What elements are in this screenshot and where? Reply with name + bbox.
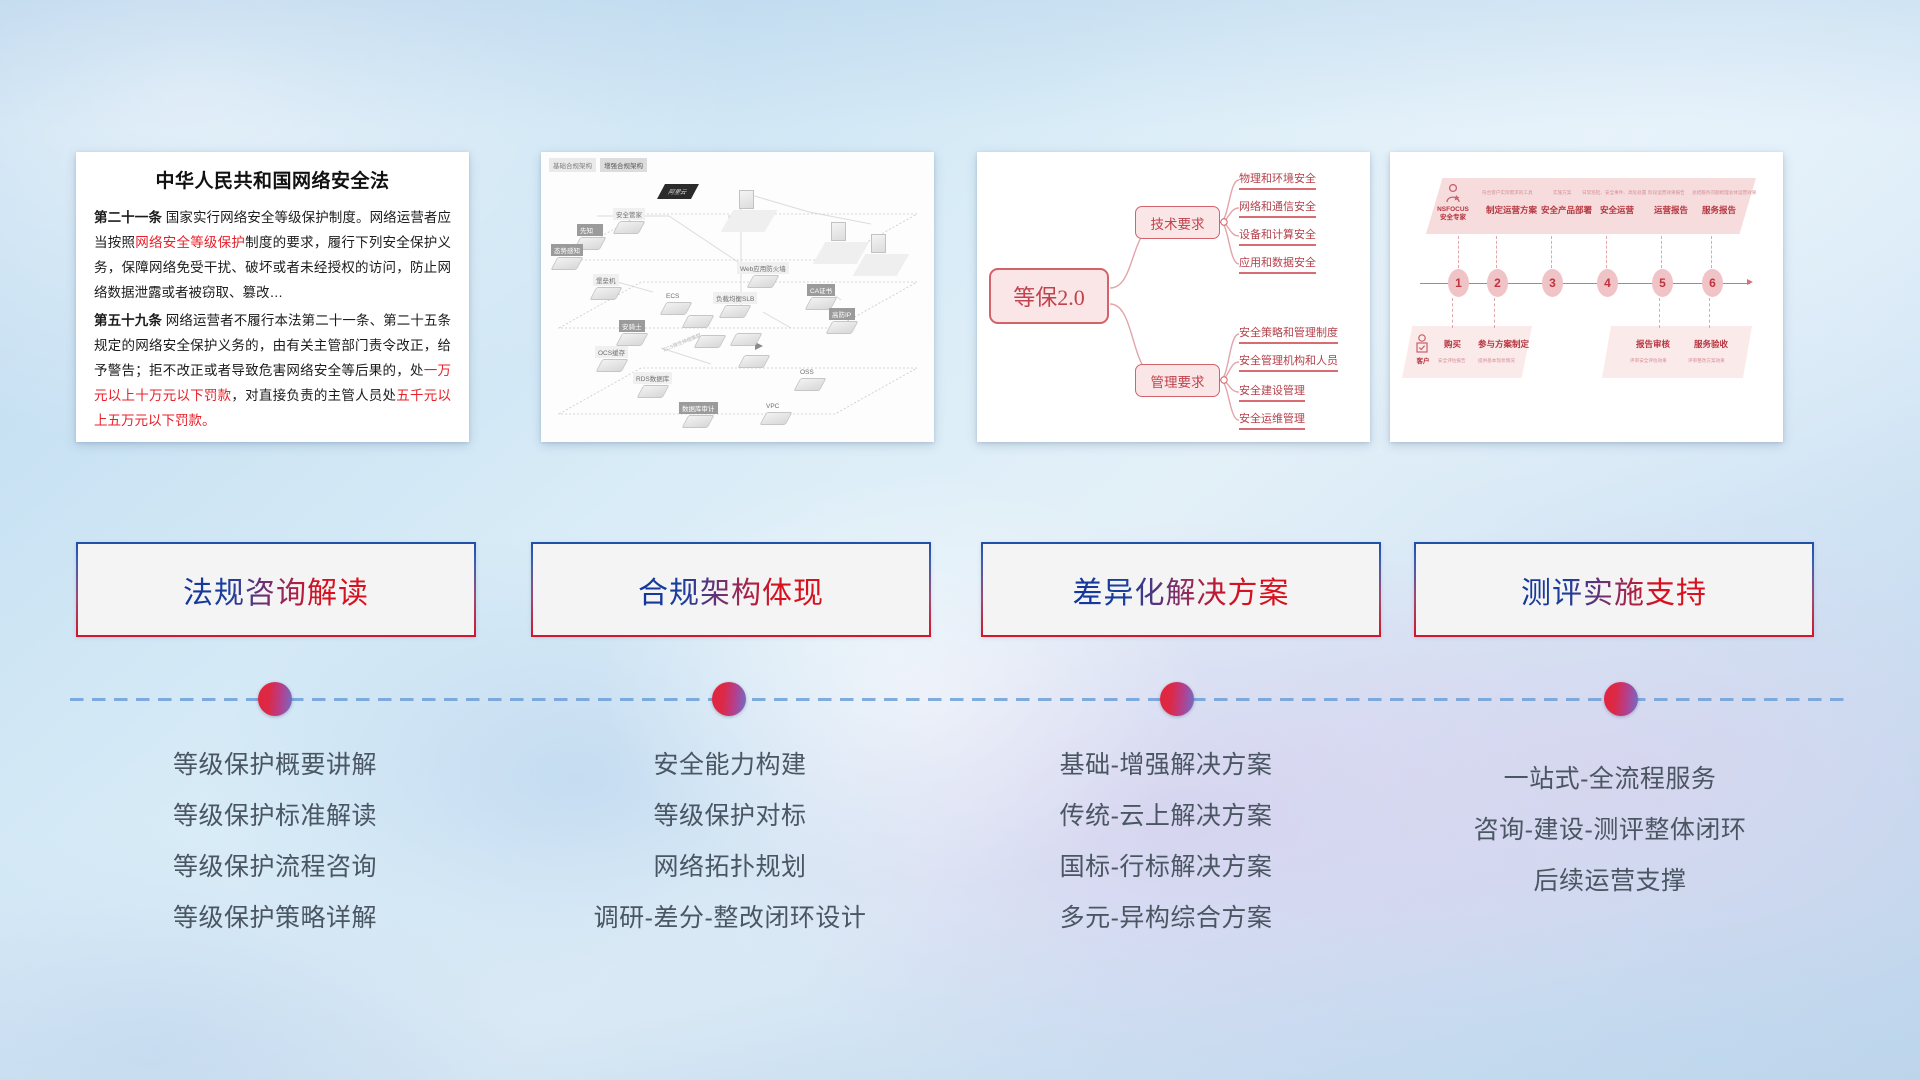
- timeline-axis: [1420, 283, 1750, 284]
- list-item: 国标-行标解决方案: [946, 842, 1386, 893]
- image-card-row: 中华人民共和国网络安全法 第二十一条 国家实行网络安全等级保护制度。网络运营者应…: [0, 152, 1920, 444]
- law-body: 中华人民共和国网络安全法 第二十一条 国家实行网络安全等级保护制度。网络运营者应…: [76, 152, 469, 442]
- list-item: 等级保护流程咨询: [55, 842, 495, 893]
- provider-step3-sub: 实施方案: [1553, 190, 1571, 196]
- node-ecs-instance-a: [685, 314, 711, 328]
- mindmap-leaf-network-comm: 网络和通信安全: [1239, 198, 1316, 218]
- node-security-butler-label: 安全管家: [613, 208, 645, 220]
- monitor-ops-icon: [739, 190, 754, 209]
- node-bastion-host: 堡垒机: [593, 274, 619, 300]
- node-database-audit-chip: [682, 415, 715, 428]
- provider-name-text: NSFOCUS: [1437, 206, 1469, 213]
- customer-step2-title: 参与方案制定: [1478, 338, 1529, 350]
- node-rds-database-chip: [636, 385, 669, 398]
- node-slb: 负载均衡SLB: [713, 292, 757, 318]
- provider-step3-title: 安全产品部署: [1541, 204, 1592, 216]
- node-situational-awareness-label: 态势感知: [551, 244, 583, 256]
- node-anqishi: 安骑士: [619, 320, 645, 346]
- list-item: 安全能力构建: [510, 740, 950, 791]
- node-ocs-cache: OCS缓存: [595, 346, 628, 372]
- node-slb-label: 负载均衡SLB: [713, 292, 757, 304]
- label-box-differentiated-solution[interactable]: 差异化解决方案: [981, 542, 1381, 637]
- timeline-arrow-icon: [1747, 279, 1753, 285]
- detail-list-row: 等级保护概要讲解 等级保护标准解读 等级保护流程咨询 等级保护策略详解 安全能力…: [0, 740, 1920, 970]
- customer-banner-right: [1602, 326, 1752, 378]
- label-box-row: 法规咨询解读 合规架构体现 差异化解决方案 测评实施支持: [0, 542, 1920, 652]
- mindmap-leaf-ops-mgmt: 安全运维管理: [1239, 410, 1305, 430]
- customer-step1-sub: 安全评估报告: [1438, 358, 1466, 364]
- node-ocs-cache-label: OCS缓存: [595, 346, 628, 358]
- node-ca-cert: CA证书: [807, 284, 835, 310]
- timeline-marker-2[interactable]: [712, 682, 746, 716]
- label-box-regulation-consulting[interactable]: 法规咨询解读: [76, 542, 476, 637]
- label-box-regulation-consulting-text: 法规咨询解读: [183, 568, 369, 612]
- node-anti-ddos-ip-label: 高防IP: [829, 308, 855, 320]
- label-box-compliance-architecture[interactable]: 合规架构体现: [531, 542, 931, 637]
- law-article-59-label: 第五十九条: [94, 313, 162, 328]
- provider-step6-sub: 总结服务问题梳理总体运营效果: [1692, 190, 1756, 196]
- node-xianzhi-label: 先知: [577, 224, 603, 236]
- detail-list-compliance-architecture: 安全能力构建 等级保护对标 网络拓扑规划 调研-差分-整改闭环设计: [510, 740, 950, 944]
- node-database-audit-label: 数据库审计: [679, 402, 718, 414]
- tab-basic-architecture[interactable]: 基础合规架构: [549, 158, 596, 172]
- customer-step6-title: 服务验收: [1694, 338, 1728, 350]
- mindmap-leaf-app-data: 应用和数据安全: [1239, 254, 1316, 274]
- provider-step4-sub: 日常巡检、安全事件、高危处置: [1582, 190, 1646, 196]
- customer-role: 客户: [1410, 358, 1436, 366]
- list-item: 等级保护标准解读: [55, 791, 495, 842]
- node-oss: OSS: [797, 368, 823, 391]
- node-ecs-instance-a-chip: [682, 315, 715, 328]
- list-item: 等级保护对标: [510, 791, 950, 842]
- list-item: 基础-增强解决方案: [946, 740, 1386, 791]
- monitor-pc-icon: [871, 234, 886, 253]
- monitor-mobile-icon: [831, 222, 846, 241]
- node-ecs-instance-d-chip: [738, 355, 771, 368]
- mindmap-branch-technical: 技术要求: [1135, 206, 1220, 239]
- law-article-59-text-b: ，对直接负责的主管人员处: [231, 388, 396, 403]
- node-waf: Web应用防火墙: [737, 262, 789, 288]
- mindmap: 等保2.0 技术要求 管理要求 物理和环境安全 网络和通信安全 设备和计算安全 …: [977, 152, 1370, 442]
- list-item: 咨询-建设-测评整体闭环: [1390, 805, 1830, 856]
- law-article-21: 第二十一条 国家实行网络安全等级保护制度。网络运营者应当按照网络安全等级保护制度…: [94, 205, 451, 305]
- node-bastion-host-chip: [590, 287, 623, 300]
- nsfocus-flow: NSFOCUS 安全专家 符合客户实际需求的工具 制定运营方案 实施方案 安全产…: [1390, 152, 1783, 442]
- node-situational-awareness: 态势感知: [551, 244, 583, 270]
- mindmap-leaf-construction-mgmt: 安全建设管理: [1239, 382, 1305, 402]
- provider-step5-sub: 阶段运营效果报告: [1648, 190, 1685, 196]
- tab-enhanced-architecture[interactable]: 增强合规架构: [600, 158, 647, 172]
- mindmap-leaf-policy-system: 安全策略和管理制度: [1239, 324, 1338, 344]
- list-item: 调研-差分-整改闭环设计: [510, 893, 950, 944]
- node-bastion-host-label: 堡垒机: [593, 274, 619, 286]
- node-waf-label: Web应用防火墙: [737, 262, 789, 274]
- node-database-audit: 数据库审计: [679, 402, 718, 428]
- node-vpc-chip: [760, 412, 793, 425]
- node-security-butler: 安全管家: [613, 208, 645, 234]
- customer-step5-sub: 评审安全评估效果: [1630, 358, 1667, 364]
- card-cybersecurity-law[interactable]: 中华人民共和国网络安全法 第二十一条 国家实行网络安全等级保护制度。网络运营者应…: [76, 152, 469, 442]
- timeline-step-2[interactable]: 2: [1487, 269, 1508, 297]
- mindmap-leaf-physical-env: 物理和环境安全: [1239, 170, 1316, 190]
- node-anti-ddos-ip-chip: [826, 321, 859, 334]
- node-ca-cert-label: CA证书: [807, 284, 835, 296]
- mindmap-leaf-device-compute: 设备和计算安全: [1239, 226, 1316, 246]
- connector-step1-top: [1458, 236, 1459, 268]
- detail-list-differentiated-solution: 基础-增强解决方案 传统-云上解决方案 国标-行标解决方案 多元-异构综合方案: [946, 740, 1386, 944]
- timeline-dashed-line: [70, 698, 1850, 701]
- architecture-diagram: 基础合规架构 增强合规架构: [541, 152, 934, 442]
- customer-person-icon: [1414, 334, 1430, 356]
- law-article-21-label: 第二十一条: [94, 210, 162, 225]
- node-rds-database: RDS数据库: [633, 372, 672, 398]
- node-rds-database-label: RDS数据库: [633, 372, 672, 384]
- node-ecs: ECS: [663, 292, 689, 315]
- customer-step5-title: 报告审核: [1636, 338, 1670, 350]
- timeline-marker-1[interactable]: [258, 682, 292, 716]
- timeline-marker-4[interactable]: [1604, 682, 1638, 716]
- law-article-21-highlight: 网络安全等级保护: [135, 235, 245, 250]
- provider-step5-title: 运营报告: [1654, 204, 1688, 216]
- timeline-step-6[interactable]: 6: [1702, 269, 1723, 297]
- connector-step1-bottom: [1452, 298, 1453, 328]
- timeline-marker-3[interactable]: [1160, 682, 1194, 716]
- timeline-step-4[interactable]: 4: [1597, 269, 1618, 297]
- node-security-butler-chip: [613, 221, 646, 234]
- card-cloud-architecture[interactable]: 基础合规架构 增强合规架构: [541, 152, 934, 442]
- law-title: 中华人民共和国网络安全法: [94, 166, 451, 193]
- connector-step2-top: [1496, 236, 1497, 268]
- list-item: 等级保护概要讲解: [55, 740, 495, 791]
- timeline-step-3[interactable]: 3: [1542, 269, 1563, 297]
- node-ecs-instance-d: [741, 354, 767, 368]
- mindmap-root: 等保2.0: [989, 268, 1109, 324]
- node-anqishi-chip: [616, 333, 649, 346]
- node-oss-chip: [794, 378, 827, 391]
- node-ocs-cache-chip: [595, 359, 628, 372]
- provider-step4-title: 安全运营: [1600, 204, 1634, 216]
- label-box-assessment-support-text: 测评实施支持: [1521, 568, 1707, 612]
- provider-step2-title: 制定运营方案: [1486, 204, 1537, 216]
- node-vpc: VPC: [763, 402, 789, 425]
- node-oss-label: OSS: [797, 368, 823, 377]
- node-ecs-label: ECS: [663, 292, 689, 301]
- provider-name: NSFOCUS 安全专家: [1430, 206, 1476, 222]
- provider-step6-title: 服务报告: [1702, 204, 1736, 216]
- label-box-differentiated-solution-text: 差异化解决方案: [1073, 568, 1290, 612]
- list-item: 多元-异构综合方案: [946, 893, 1386, 944]
- timeline-step-5[interactable]: 5: [1652, 269, 1673, 297]
- law-article-59: 第五十九条 网络运营者不履行本法第二十一条、第二十五条规定的网络安全保护义务的，…: [94, 308, 451, 433]
- provider-role-text: 安全专家: [1440, 214, 1466, 221]
- node-ecs-instance-b: [697, 334, 723, 348]
- list-item: 一站式-全流程服务: [1390, 754, 1830, 805]
- card-nsfocus-service-flow[interactable]: NSFOCUS 安全专家 符合客户实际需求的工具 制定运营方案 实施方案 安全产…: [1390, 152, 1783, 442]
- process-timeline: [0, 676, 1920, 724]
- connector-step6-top: [1711, 236, 1712, 268]
- customer-step1-title: 购买: [1444, 338, 1461, 350]
- node-ecs-instance-c: [733, 332, 759, 346]
- connector-step2-bottom: [1494, 298, 1495, 328]
- list-item: 等级保护策略详解: [55, 893, 495, 944]
- mindmap-branch-management: 管理要求: [1135, 364, 1220, 397]
- list-item: 网络拓扑规划: [510, 842, 950, 893]
- architecture-tabs: 基础合规架构 增强合规架构: [549, 158, 647, 172]
- detail-list-assessment-support: 一站式-全流程服务 咨询-建设-测评整体闭环 后续运营支撑: [1390, 754, 1830, 907]
- connector-step5-top: [1661, 236, 1662, 268]
- list-item: 后续运营支撑: [1390, 856, 1830, 907]
- node-vpc-label: VPC: [763, 402, 789, 411]
- label-box-assessment-support[interactable]: 测评实施支持: [1414, 542, 1814, 637]
- node-anti-ddos-ip: 高防IP: [829, 308, 855, 334]
- node-waf-chip: [746, 275, 779, 288]
- label-box-compliance-architecture-text: 合规架构体现: [638, 568, 824, 612]
- detail-list-regulation-consulting: 等级保护概要讲解 等级保护标准解读 等级保护流程咨询 等级保护策略详解: [55, 740, 495, 944]
- node-anqishi-label: 安骑士: [619, 320, 645, 332]
- node-ecs-instance-b-chip: [694, 335, 727, 348]
- customer-step2-sub: 提供基本现状情况: [1478, 358, 1515, 364]
- mindmap-leaf-org-personnel: 安全管理机构和人员: [1239, 352, 1338, 372]
- provider-person-icon: [1444, 184, 1462, 204]
- node-slb-chip: [719, 305, 752, 318]
- node-situational-awareness-chip: [551, 257, 584, 270]
- node-ecs-instance-c-chip: [730, 333, 763, 346]
- connector-step4-top: [1606, 236, 1607, 268]
- list-item: 传统-云上解决方案: [946, 791, 1386, 842]
- timeline-step-1[interactable]: 1: [1448, 269, 1469, 297]
- connector-step6-bottom: [1709, 298, 1710, 328]
- provider-step2-sub: 符合客户实际需求的工具: [1482, 190, 1533, 196]
- connector-step5-bottom: [1659, 298, 1660, 328]
- card-dengbao-mindmap[interactable]: 等保2.0 技术要求 管理要求 物理和环境安全 网络和通信安全 设备和计算安全 …: [977, 152, 1370, 442]
- customer-step6-sub: 评审整改方案效果: [1688, 358, 1725, 364]
- connector-step3-top: [1551, 236, 1552, 268]
